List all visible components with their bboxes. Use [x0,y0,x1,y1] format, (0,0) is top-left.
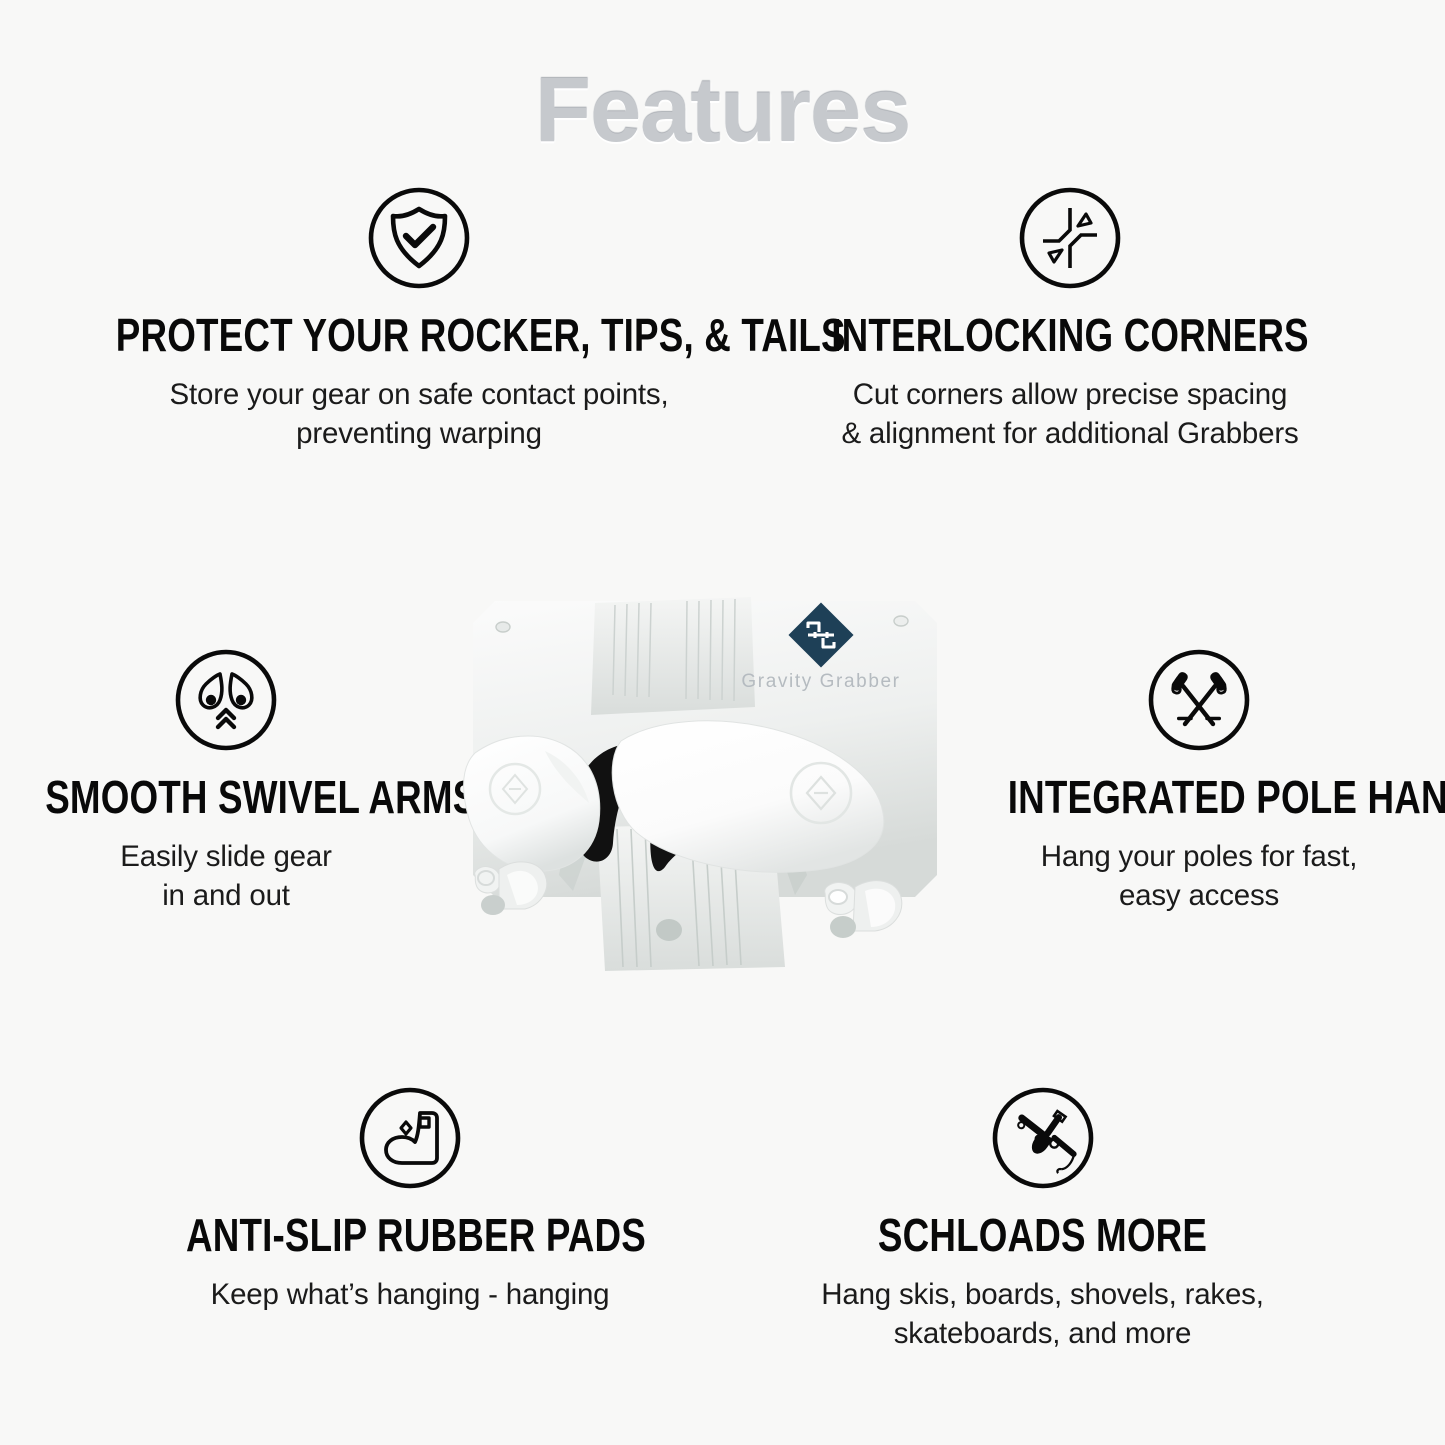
feature-smooth-swivel-arms: SMOOTH SWIVEL ARMS Easily slide gear in … [0,648,452,916]
interlocking-corners-icon [720,186,1420,290]
feature-desc-line: Keep what’s hanging - hanging [130,1275,690,1315]
feature-desc-line: Hang your poles for fast, [960,837,1438,877]
feature-desc-line: in and out [0,876,452,916]
feature-title: INTEGRATED POLE HANGERS [1008,774,1390,821]
feature-desc-line: Easily slide gear [0,837,452,877]
feature-description: Cut corners allow precise spacing & alig… [720,375,1420,454]
product-image-gravity-grabber: Gravity Grabber [455,575,955,995]
crossed-ski-poles-icon [960,648,1438,752]
feature-interlocking-corners: INTERLOCKING CORNERS Cut corners allow p… [720,186,1420,454]
pole-hanger-left [475,862,547,915]
swivel-arms-icon [0,648,452,752]
product-brand-text: Gravity Grabber [741,671,900,692]
feature-title: SCHLOADS MORE [825,1212,1261,1259]
feature-title: INTERLOCKING CORNERS [790,312,1350,359]
feature-anti-slip-rubber-pads: ANTI-SLIP RUBBER PADS Keep what’s hangin… [130,1086,690,1314]
feature-desc-line: & alignment for additional Grabbers [720,414,1420,454]
page-title: Features [0,58,1445,163]
feature-description: Hang your poles for fast, easy access [960,837,1438,916]
feature-title: ANTI-SLIP RUBBER PADS [186,1212,634,1259]
feature-desc-line: Hang skis, boards, shovels, rakes, [770,1275,1315,1315]
feature-description: Easily slide gear in and out [0,837,452,916]
feature-desc-line: skateboards, and more [770,1314,1315,1354]
feature-schloads-more: SCHLOADS MORE Hang skis, boards, shovels… [770,1086,1315,1354]
shield-check-icon [40,186,798,290]
feature-description: Keep what’s hanging - hanging [130,1275,690,1315]
feature-protect-rocker-tips-tails: PROTECT YOUR ROCKER, TIPS, & TAILS Store… [40,186,798,454]
feature-desc-line: Store your gear on safe contact points, [40,375,798,415]
feature-title: PROTECT YOUR ROCKER, TIPS, & TAILS [116,312,722,359]
feature-desc-line: preventing warping [40,414,798,454]
feature-desc-line: Cut corners allow precise spacing [720,375,1420,415]
feature-description: Hang skis, boards, shovels, rakes, skate… [770,1275,1315,1354]
sports-gear-icon [770,1086,1315,1190]
feature-integrated-pole-hangers: INTEGRATED POLE HANGERS Hang your poles … [960,648,1438,916]
feature-description: Store your gear on safe contact points, … [40,375,798,454]
feature-title: SMOOTH SWIVEL ARMS [45,774,407,821]
feature-desc-line: easy access [960,876,1438,916]
flexed-bicep-icon [130,1086,690,1190]
pole-hanger-right [825,881,902,938]
